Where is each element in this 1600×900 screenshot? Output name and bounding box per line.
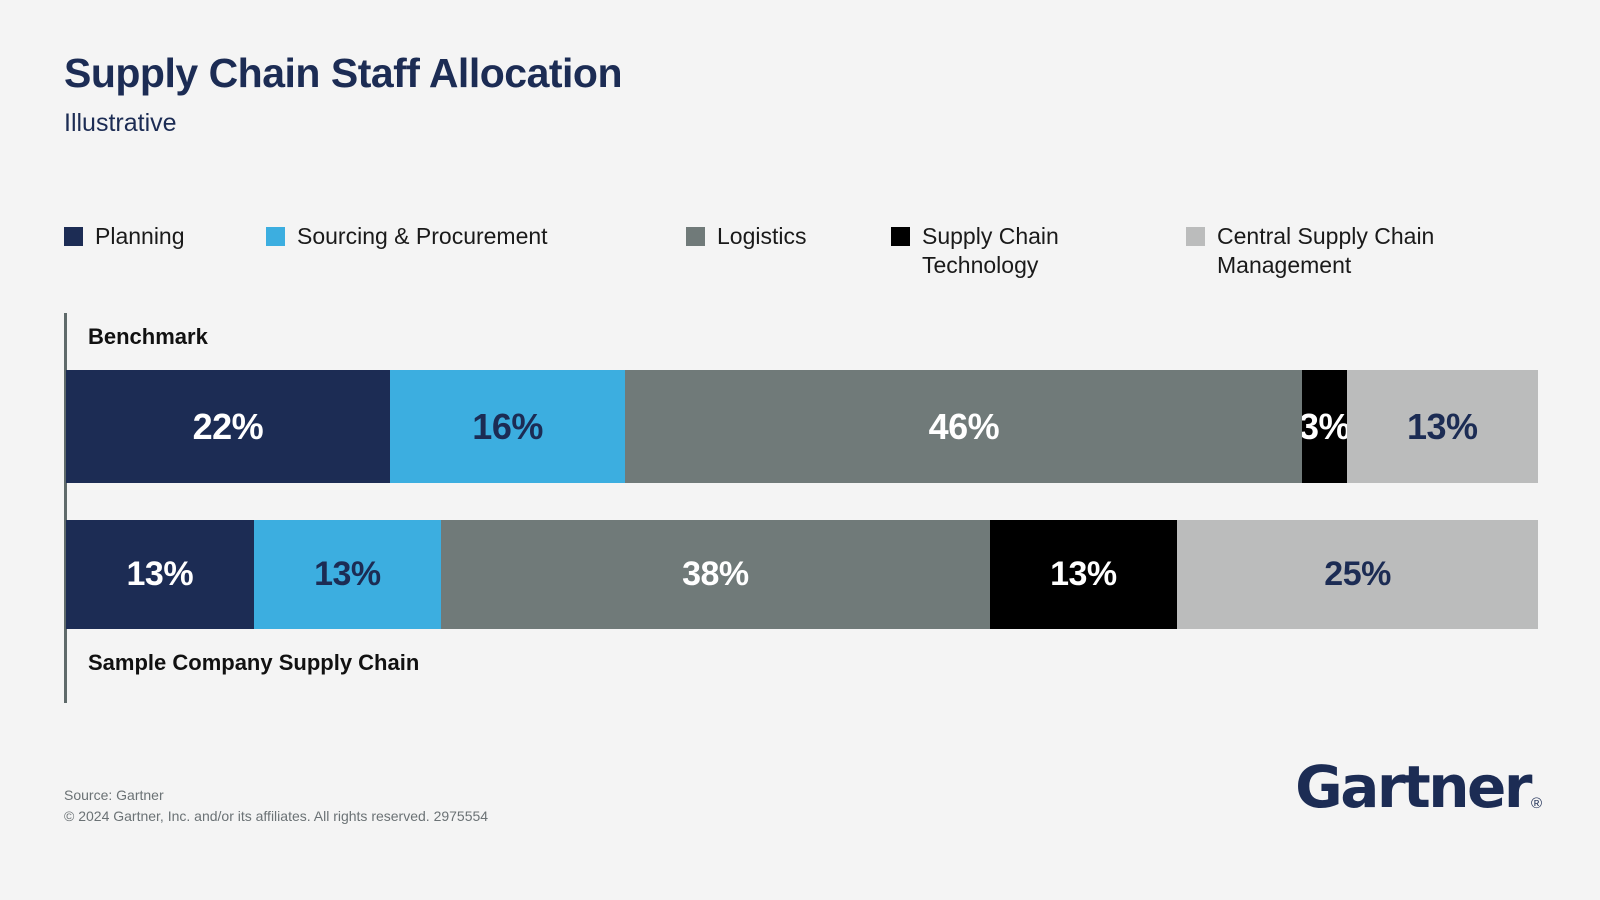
bar-segment-value: 25%	[1324, 555, 1391, 594]
bar-label-sample-company: Sample Company Supply Chain	[88, 650, 419, 676]
legend-item-label: Central Supply Chain Management	[1217, 222, 1434, 281]
legend-item-label: Planning	[95, 222, 185, 251]
legend-item-2[interactable]: Logistics	[686, 222, 806, 251]
bar-segment[interactable]: 13%	[254, 520, 442, 629]
registered-trademark-icon: ®	[1531, 795, 1542, 812]
bar-segment[interactable]: 13%	[990, 520, 1178, 629]
gartner-logo: Gartner ®	[1295, 758, 1542, 816]
bar-segment-value: 22%	[193, 406, 264, 448]
legend-swatch-icon	[1186, 227, 1205, 246]
legend-item-label: Sourcing & Procurement	[297, 222, 548, 251]
footer-copyright: © 2024 Gartner, Inc. and/or its affiliat…	[64, 806, 488, 827]
legend-swatch-icon	[64, 227, 83, 246]
header: Supply Chain Staff Allocation Illustrati…	[64, 50, 622, 138]
bar-segment[interactable]: 13%	[1347, 370, 1538, 483]
legend-item-3[interactable]: Supply Chain Technology	[891, 222, 1059, 281]
bar-segment-value: 13%	[1050, 555, 1117, 594]
legend-item-label: Supply Chain Technology	[922, 222, 1059, 281]
bar-segment[interactable]: 25%	[1177, 520, 1538, 629]
stacked-bar-benchmark: 22%16%46%3%13%	[66, 370, 1538, 483]
legend-swatch-icon	[266, 227, 285, 246]
legend-item-label: Logistics	[717, 222, 806, 251]
bar-segment-value: 16%	[472, 406, 543, 448]
chart-legend: PlanningSourcing & ProcurementLogisticsS…	[64, 222, 1544, 302]
legend-swatch-icon	[891, 227, 910, 246]
bar-segment-value: 13%	[314, 555, 381, 594]
legend-swatch-icon	[686, 227, 705, 246]
footer: Source: Gartner © 2024 Gartner, Inc. and…	[64, 785, 488, 827]
legend-item-0[interactable]: Planning	[64, 222, 185, 251]
bar-segment[interactable]: 46%	[625, 370, 1302, 483]
bar-segment-value: 13%	[1407, 406, 1478, 448]
chart-page: Supply Chain Staff Allocation Illustrati…	[0, 0, 1600, 900]
bar-segment[interactable]: 38%	[441, 520, 989, 629]
bar-segment-value: 13%	[127, 555, 194, 594]
bar-segment[interactable]: 13%	[66, 520, 254, 629]
bar-segment-value: 3%	[1302, 406, 1346, 448]
legend-item-4[interactable]: Central Supply Chain Management	[1186, 222, 1434, 281]
footer-source: Source: Gartner	[64, 785, 488, 806]
bar-segment[interactable]: 16%	[390, 370, 626, 483]
page-subtitle: Illustrative	[64, 109, 622, 138]
bar-segment[interactable]: 3%	[1302, 370, 1346, 483]
stacked-bar-sample-company: 13%13%38%13%25%	[66, 520, 1538, 629]
legend-item-1[interactable]: Sourcing & Procurement	[266, 222, 548, 251]
bar-label-benchmark: Benchmark	[88, 324, 208, 350]
bar-segment-value: 38%	[682, 555, 749, 594]
chart-plot-area: Benchmark 22%16%46%3%13% 13%13%38%13%25%…	[64, 313, 1538, 703]
gartner-logo-text: Gartner	[1295, 758, 1530, 816]
bar-segment[interactable]: 22%	[66, 370, 390, 483]
bar-segment-value: 46%	[929, 406, 1000, 448]
page-title: Supply Chain Staff Allocation	[64, 50, 622, 97]
